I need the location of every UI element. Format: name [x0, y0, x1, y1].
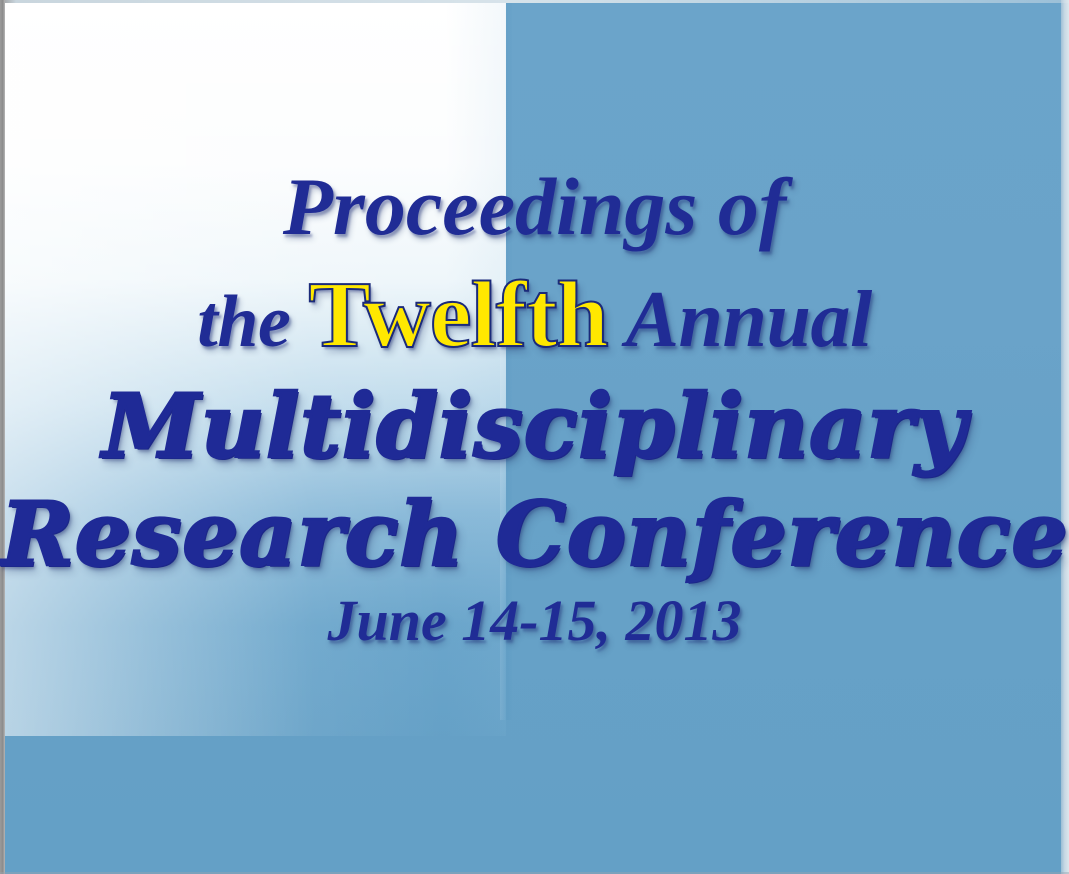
title-line-research-conference: Research Conference [0, 490, 1069, 578]
title-line-multidisciplinary: Multidisciplinary [0, 382, 1069, 470]
title-word-annual: Annual [626, 276, 872, 364]
cover-page: Proceedings of theTwelfthAnnual Multidis… [0, 0, 1069, 874]
conference-date: June 14-15, 2013 [0, 592, 1069, 650]
cover-title-block: Proceedings of theTwelfthAnnual Multidis… [0, 0, 1069, 874]
title-word-the: the [197, 281, 290, 363]
title-word-twelfth-highlight: Twelfth [304, 263, 611, 367]
title-line-proceedings: Proceedings of [0, 166, 1069, 248]
title-line-twelfth: theTwelfthAnnual [0, 268, 1069, 362]
